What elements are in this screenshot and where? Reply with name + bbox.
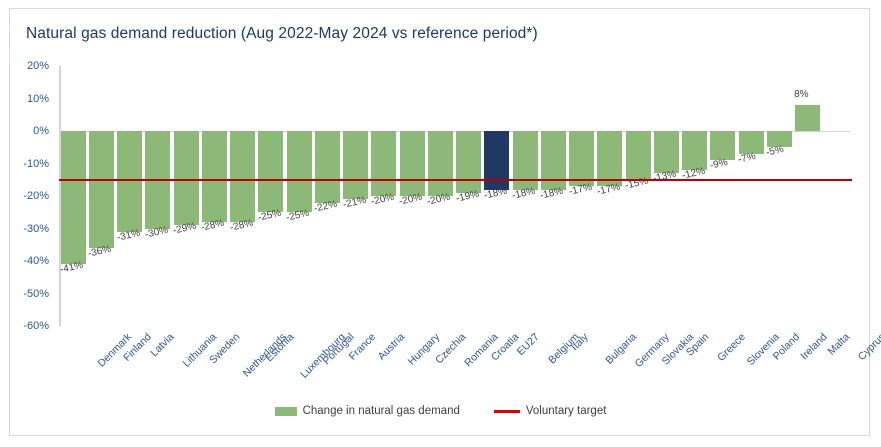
bar[interactable] — [428, 131, 453, 196]
chart-card: Natural gas demand reduction (Aug 2022-M… — [9, 8, 870, 436]
bar-slot: -21% — [342, 66, 370, 326]
bar[interactable] — [456, 131, 481, 193]
bar[interactable] — [315, 131, 340, 203]
legend-item-target: Voluntary target — [494, 405, 607, 417]
x-axis-tick: Latvia — [148, 331, 176, 359]
y-axis-tick: 0% — [33, 125, 49, 137]
bar[interactable] — [258, 131, 283, 212]
y-axis-tick: -60% — [23, 320, 49, 332]
bar-slot: -18% — [511, 66, 539, 326]
bar-slot: -20% — [426, 66, 454, 326]
bar-slot: -20% — [398, 66, 426, 326]
bar-slot: -20% — [370, 66, 398, 326]
bar-slot: -22% — [313, 66, 341, 326]
bar-slot: -41% — [59, 66, 87, 326]
bar-slot: -31% — [116, 66, 144, 326]
y-axis-tick: -30% — [23, 223, 49, 235]
bar[interactable] — [371, 131, 396, 196]
bar-value-label: -5% — [765, 144, 785, 159]
bar[interactable] — [682, 131, 707, 170]
bar-slot: -15% — [624, 66, 652, 326]
bar-slot — [822, 66, 850, 326]
bar[interactable] — [343, 131, 368, 199]
y-axis-tick: 10% — [27, 93, 49, 105]
bar[interactable] — [117, 131, 142, 232]
bar-slot: -9% — [709, 66, 737, 326]
bar-slot: -36% — [87, 66, 115, 326]
x-axis-tick: Ireland — [799, 331, 830, 362]
voluntary-target-line — [59, 179, 852, 182]
x-axis-tick: Austria — [375, 331, 407, 363]
legend-label-target: Voluntary target — [526, 405, 607, 417]
bar-slot: -28% — [229, 66, 257, 326]
chart-title: Natural gas demand reduction (Aug 2022-M… — [26, 25, 538, 43]
bar[interactable] — [654, 131, 679, 173]
legend-bar-swatch-icon — [275, 407, 297, 416]
bar-slot: -25% — [257, 66, 285, 326]
bar-slot: -19% — [455, 66, 483, 326]
legend-item-demand: Change in natural gas demand — [275, 405, 460, 417]
bar-slot: -25% — [285, 66, 313, 326]
bar[interactable] — [710, 131, 735, 160]
x-axis: DenmarkFinlandLatviaLithuaniaSwedenNethe… — [59, 327, 850, 397]
bar-slot: -13% — [652, 66, 680, 326]
y-axis-tick: -50% — [23, 288, 49, 300]
legend-label-demand: Change in natural gas demand — [303, 405, 460, 417]
y-axis-tick: -40% — [23, 255, 49, 267]
y-axis-tick: -10% — [23, 158, 49, 170]
bar[interactable] — [795, 105, 820, 131]
bar-slot: -18% — [539, 66, 567, 326]
bar[interactable] — [400, 131, 425, 196]
x-axis-tick: EU27 — [514, 331, 541, 358]
y-axis-tick: 20% — [27, 60, 49, 72]
x-axis-tick: Cyprus — [855, 331, 881, 363]
y-axis-tick: -20% — [23, 190, 49, 202]
bar-slot: -18% — [483, 66, 511, 326]
bar-value-label: -9% — [709, 157, 729, 172]
bar[interactable] — [61, 131, 86, 264]
bar-slot: -5% — [765, 66, 793, 326]
bar-slot: -17% — [568, 66, 596, 326]
x-axis-tick: Malta — [825, 331, 852, 358]
bar-slot: -30% — [144, 66, 172, 326]
bar-slot: -12% — [681, 66, 709, 326]
plot-area: -41%-36%-31%-30%-29%-28%-28%-25%-25%-22%… — [59, 66, 850, 326]
bar-series: -41%-36%-31%-30%-29%-28%-28%-25%-25%-22%… — [59, 66, 850, 326]
bar-value-label: 8% — [794, 89, 808, 100]
x-axis-tick: Greece — [715, 331, 748, 364]
chart-legend: Change in natural gas demand Voluntary t… — [10, 405, 871, 417]
bar[interactable] — [287, 131, 312, 212]
bar-slot: -28% — [200, 66, 228, 326]
bar-slot: -7% — [737, 66, 765, 326]
bar-slot: -17% — [596, 66, 624, 326]
bar[interactable] — [739, 131, 764, 154]
bar[interactable] — [626, 131, 651, 180]
bar[interactable] — [202, 131, 227, 222]
y-axis: 20%10%0%-10%-20%-30%-40%-50%-60% — [10, 9, 55, 409]
bar-slot: 8% — [794, 66, 822, 326]
bar[interactable] — [230, 131, 255, 222]
bar-slot: -29% — [172, 66, 200, 326]
legend-line-swatch-icon — [494, 410, 520, 413]
bar[interactable] — [89, 131, 114, 248]
